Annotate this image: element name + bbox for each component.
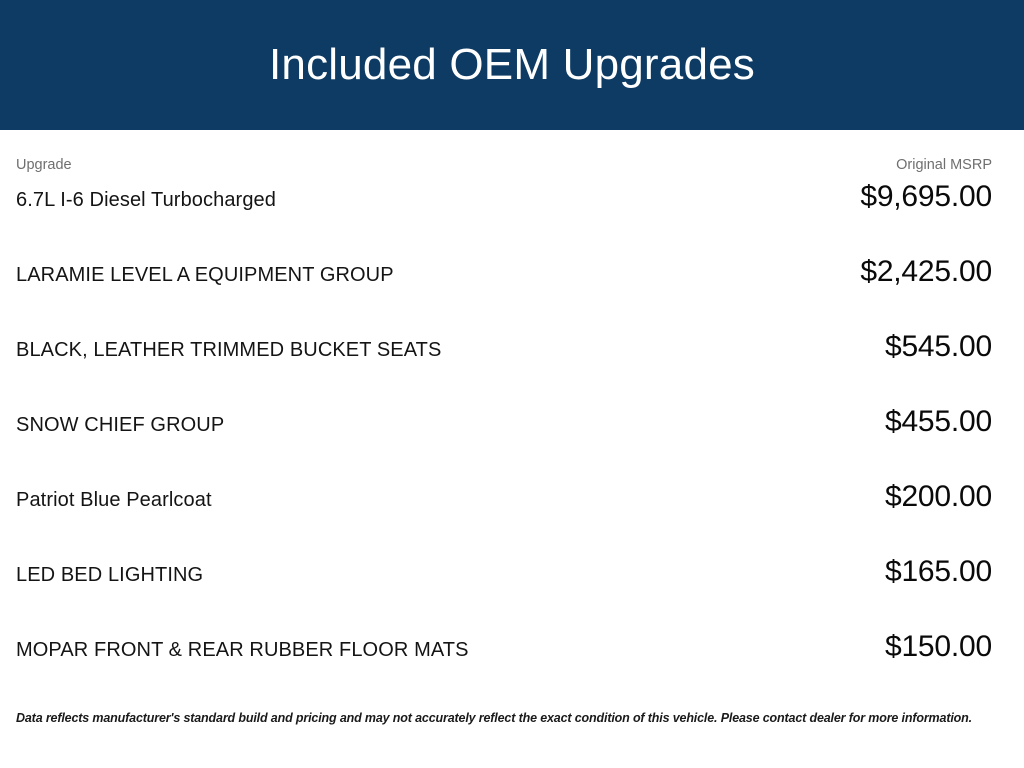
upgrade-price: $200.00 <box>885 482 992 512</box>
upgrade-name: Patriot Blue Pearlcoat <box>16 490 861 510</box>
upgrade-name: 6.7L I-6 Diesel Turbocharged <box>16 190 836 210</box>
column-header-upgrade: Upgrade <box>16 158 72 173</box>
table-row: BLACK, LEATHER TRIMMED BUCKET SEATS $545… <box>16 332 992 407</box>
table-header-row: Upgrade Original MSRP <box>16 130 992 182</box>
upgrade-name: SNOW CHIEF GROUP <box>16 415 861 435</box>
upgrade-price: $9,695.00 <box>860 182 992 212</box>
upgrade-name: LED BED LIGHTING <box>16 565 861 585</box>
table-row: MOPAR FRONT & REAR RUBBER FLOOR MATS $15… <box>16 632 992 707</box>
upgrade-price: $165.00 <box>885 557 992 587</box>
disclaimer-text: Data reflects manufacturer's standard bu… <box>16 710 1008 726</box>
upgrade-name: BLACK, LEATHER TRIMMED BUCKET SEATS <box>16 340 861 360</box>
upgrade-price: $455.00 <box>885 407 992 437</box>
table-row: 6.7L I-6 Diesel Turbocharged $9,695.00 <box>16 182 992 257</box>
upgrade-name: LARAMIE LEVEL A EQUIPMENT GROUP <box>16 265 836 285</box>
upgrade-price: $150.00 <box>885 632 992 662</box>
page-banner: Included OEM Upgrades <box>0 0 1024 130</box>
oem-upgrades-page: Included OEM Upgrades Upgrade Original M… <box>0 0 1024 768</box>
column-header-original-msrp: Original MSRP <box>896 158 992 173</box>
upgrade-price: $2,425.00 <box>860 257 992 287</box>
table-row: LARAMIE LEVEL A EQUIPMENT GROUP $2,425.0… <box>16 257 992 332</box>
table-row: SNOW CHIEF GROUP $455.00 <box>16 407 992 482</box>
upgrades-table: Upgrade Original MSRP 6.7L I-6 Diesel Tu… <box>0 130 1024 707</box>
page-title: Included OEM Upgrades <box>269 43 755 87</box>
table-row: Patriot Blue Pearlcoat $200.00 <box>16 482 992 557</box>
table-body: 6.7L I-6 Diesel Turbocharged $9,695.00 L… <box>16 182 992 707</box>
upgrade-price: $545.00 <box>885 332 992 362</box>
table-row: LED BED LIGHTING $165.00 <box>16 557 992 632</box>
upgrade-name: MOPAR FRONT & REAR RUBBER FLOOR MATS <box>16 640 861 660</box>
